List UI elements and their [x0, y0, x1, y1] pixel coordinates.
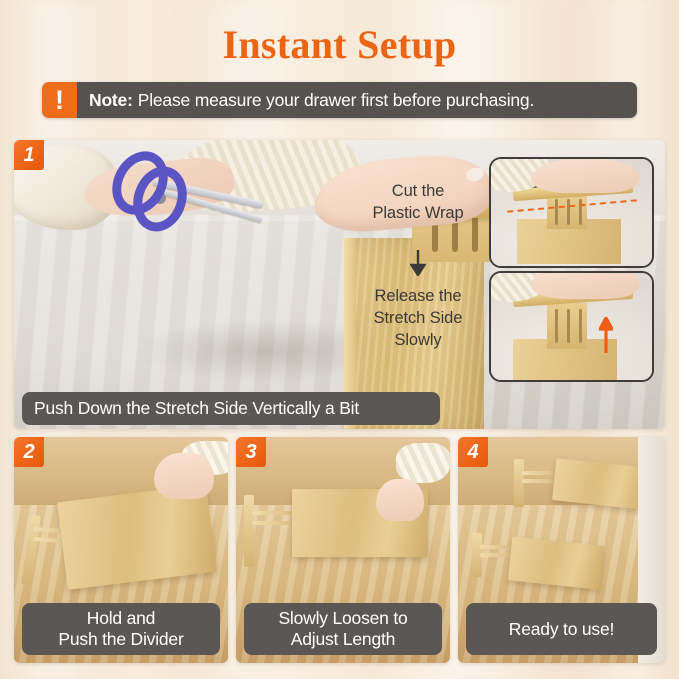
cut-line-inset: [489, 157, 654, 268]
caption-line: Slowly Loosen to: [278, 608, 407, 629]
step-4-caption: Ready to use!: [466, 603, 657, 655]
instruction-cut-the-plastic-wrap: Cut the Plastic Wrap: [348, 180, 488, 224]
step-1-caption: Push Down the Stretch Side Vertically a …: [22, 392, 440, 425]
bamboo-slot: [567, 199, 570, 225]
note-text: Note: Please measure your drawer first b…: [77, 82, 637, 118]
hand: [531, 271, 639, 299]
step-number-badge-1: 1: [14, 140, 44, 170]
step-number-badge-3: 3: [236, 437, 266, 467]
bamboo-slot: [579, 199, 582, 225]
instruction-release-the-stretch-side-slowly: Release the Stretch Side Slowly: [348, 285, 488, 351]
exclamation-icon: !: [42, 82, 77, 118]
divider-rail: [480, 545, 514, 549]
hand: [154, 453, 214, 499]
instruction-line: Slowly: [348, 329, 488, 351]
instruction-line: Release the: [348, 285, 488, 307]
bamboo-slot: [579, 309, 582, 343]
orange-up-arrow-icon: [599, 317, 613, 353]
bamboo-slot: [555, 199, 558, 225]
hand: [376, 479, 424, 521]
caption-line: Push the Divider: [58, 629, 183, 650]
arrow-down-icon: [410, 250, 426, 276]
step-number-badge-4: 4: [458, 437, 488, 467]
note-bar: ! Note: Please measure your drawer first…: [42, 82, 637, 118]
instruction-line: Plastic Wrap: [348, 202, 488, 224]
divider-post: [244, 495, 254, 567]
release-inset: [489, 271, 654, 382]
bamboo-divider-board: [57, 484, 217, 590]
step-2-caption: Hold and Push the Divider: [22, 603, 220, 655]
caption-line: Ready to use!: [509, 619, 614, 640]
instruction-line: Cut the: [348, 180, 488, 202]
caption-line: Adjust Length: [278, 629, 407, 650]
caption-line: Hold and: [58, 608, 183, 629]
page-title: Instant Setup: [0, 20, 679, 70]
hand: [531, 159, 639, 193]
bamboo-slot: [567, 309, 570, 343]
note-message: Please measure your drawer first before …: [138, 90, 534, 111]
bamboo-slot: [555, 309, 558, 343]
note-label: Note:: [89, 90, 133, 111]
infographic-page: Instant Setup ! Note: Please measure you…: [0, 0, 679, 679]
bamboo-divider-board: [508, 536, 604, 589]
sleeve: [396, 443, 450, 483]
step-number-badge-2: 2: [14, 437, 44, 467]
divider-post: [514, 459, 524, 507]
instruction-line: Stretch Side: [348, 307, 488, 329]
divider-rail: [480, 553, 514, 557]
step-3-caption: Slowly Loosen to Adjust Length: [244, 603, 442, 655]
